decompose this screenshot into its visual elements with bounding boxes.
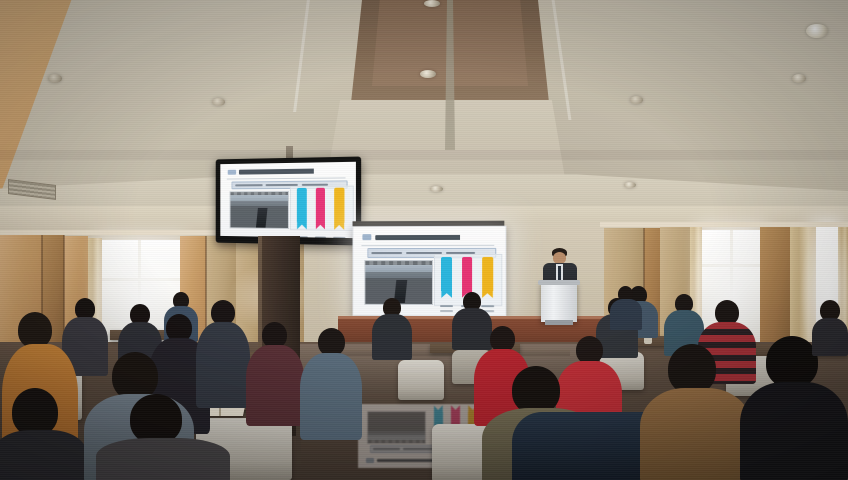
- head: [112, 352, 158, 400]
- attendee-steel-blue: [300, 328, 362, 440]
- seated-audience: [0, 0, 848, 480]
- attendee-far-right-top: [812, 300, 848, 356]
- head: [18, 312, 52, 348]
- torso: [246, 345, 304, 426]
- attendee-back-center: [372, 298, 412, 360]
- head: [12, 388, 58, 436]
- torso: [640, 388, 752, 480]
- head: [766, 336, 818, 388]
- torso: [96, 438, 230, 480]
- attendee-dark-left: [0, 388, 86, 480]
- head: [318, 328, 345, 356]
- head: [130, 394, 182, 444]
- torso: [372, 314, 412, 360]
- torso: [812, 318, 848, 356]
- torso: [740, 382, 848, 480]
- torso: [0, 430, 86, 480]
- attendee-black-right: [740, 336, 848, 480]
- attendee-camel-coat: [640, 344, 752, 480]
- torso: [300, 353, 362, 440]
- attendee-gray-front: [96, 394, 230, 480]
- attendee-navy-1: [196, 300, 250, 408]
- torso: [610, 299, 642, 330]
- head: [668, 344, 716, 394]
- attendee-presenter-side: [610, 286, 642, 330]
- attendee-maroon: [246, 322, 304, 426]
- head: [512, 366, 560, 414]
- head: [576, 336, 603, 364]
- conference-room-photo: [0, 0, 848, 480]
